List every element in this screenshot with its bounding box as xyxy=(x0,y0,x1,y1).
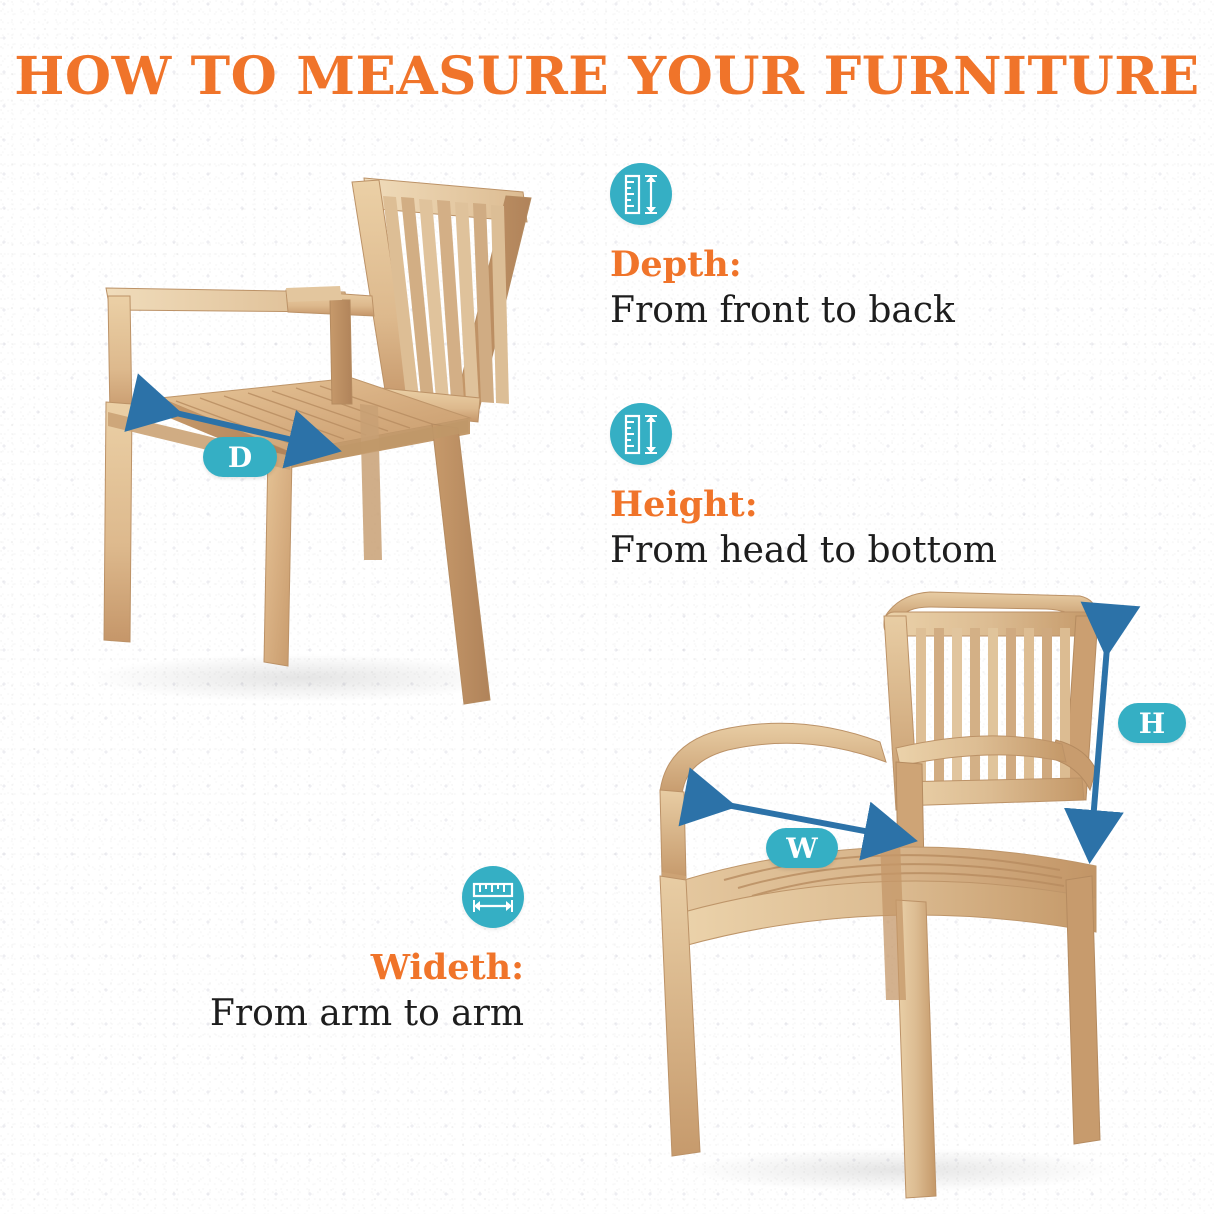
height-icon-wrap xyxy=(610,403,997,465)
width-term: Wideth: xyxy=(150,950,524,987)
vertical-ruler-arrow-icon xyxy=(610,163,672,225)
height-badge: H xyxy=(1118,703,1186,743)
info-block-depth: Depth: From front to back xyxy=(610,163,955,331)
width-icon-wrap xyxy=(150,866,524,928)
depth-term: Depth: xyxy=(610,247,955,284)
width-description: From arm to arm xyxy=(150,993,524,1034)
vertical-ruler-arrow-icon xyxy=(610,403,672,465)
depth-icon-wrap xyxy=(610,163,955,225)
horizontal-ruler-arrow-icon xyxy=(462,866,524,928)
depth-badge: D xyxy=(203,437,277,477)
page-title: HOW TO MEASURE YOUR FURNITURE xyxy=(0,46,1214,107)
height-term: Height: xyxy=(610,487,997,524)
infographic-canvas: HOW TO MEASURE YOUR FURNITURE xyxy=(0,0,1214,1214)
depth-description: From front to back xyxy=(610,290,955,331)
height-description: From head to bottom xyxy=(610,530,997,571)
width-badge: W xyxy=(766,828,838,868)
info-block-width: Wideth: From arm to arm xyxy=(150,866,524,1034)
info-block-height: Height: From head to bottom xyxy=(610,403,997,571)
